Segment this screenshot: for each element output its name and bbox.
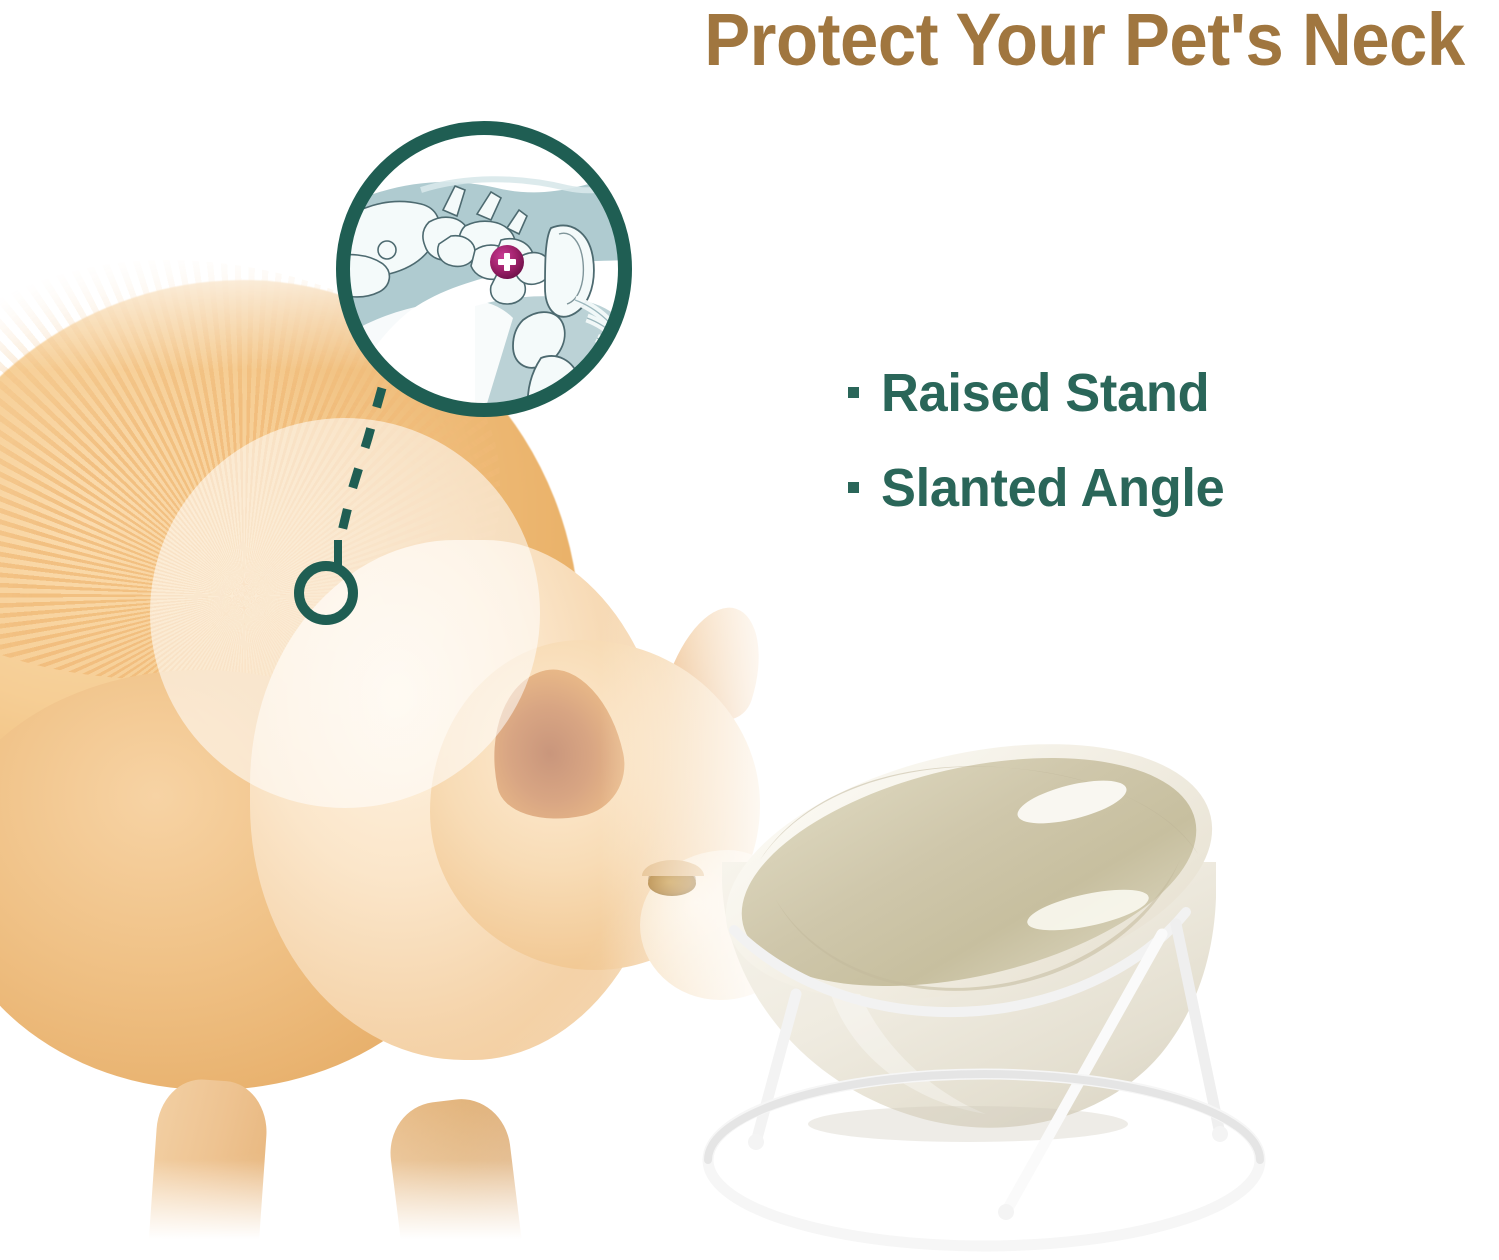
spine-pressure-point-marker bbox=[490, 245, 524, 279]
cat-front-leg-left bbox=[140, 1077, 270, 1250]
cat-front-leg-right bbox=[385, 1094, 536, 1250]
square-bullet-icon bbox=[848, 387, 859, 398]
feature-label: Slanted Angle bbox=[881, 457, 1225, 519]
feature-item-raised-stand: Raised Stand bbox=[848, 345, 1408, 440]
product-feature-image: Protect Your Pet's Neck Raised Stand Sla… bbox=[0, 0, 1499, 1260]
cat-cervical-spine-xray bbox=[325, 110, 643, 428]
bowl-underside-shadow bbox=[808, 1106, 1128, 1142]
neck-ring-marker bbox=[299, 566, 353, 620]
feature-label: Raised Stand bbox=[881, 362, 1209, 424]
feature-list: Raised Stand Slanted Angle bbox=[848, 345, 1408, 535]
tilted-raised-pet-bowl bbox=[700, 742, 1270, 1252]
square-bullet-icon bbox=[848, 482, 859, 493]
feature-item-slanted-angle: Slanted Angle bbox=[848, 440, 1408, 535]
page-title: Protect Your Pet's Neck bbox=[705, 0, 1465, 84]
